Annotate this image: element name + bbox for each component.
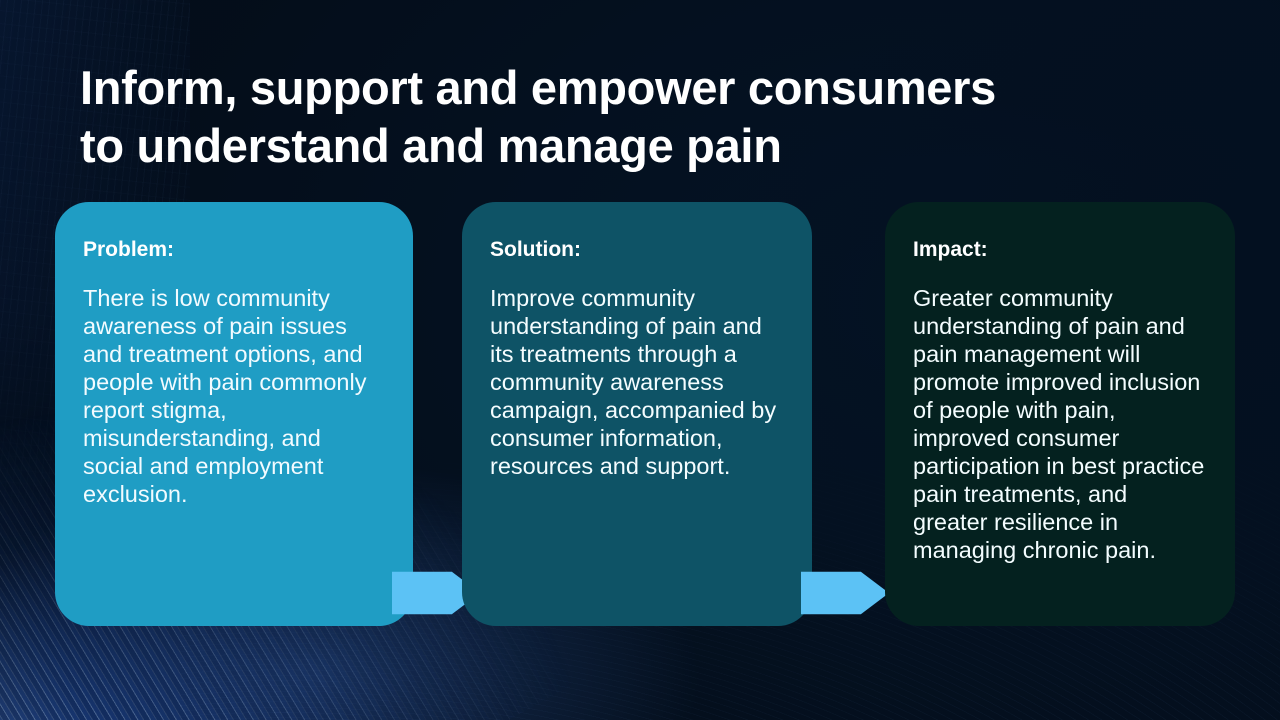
card-impact-heading: Impact: [913,238,1205,261]
card-solution-heading: Solution: [490,238,782,261]
card-row: Problem: There is low community awarenes… [0,202,1280,626]
slide: Inform, support and empower consumers to… [0,0,1280,720]
card-solution: Solution: Improve community understandin… [462,202,812,626]
card-problem-heading: Problem: [83,238,383,261]
card-impact-body: Greater community understanding of pain … [913,285,1205,565]
card-problem-body: There is low community awareness of pain… [83,285,383,509]
arrow-right-icon-solution-to-impact [801,565,889,621]
slide-title: Inform, support and empower consumers to… [80,59,1220,174]
card-impact: Impact: Greater community understanding … [885,202,1235,626]
card-solution-body: Improve community understanding of pain … [490,285,782,481]
card-problem: Problem: There is low community awarenes… [55,202,413,626]
